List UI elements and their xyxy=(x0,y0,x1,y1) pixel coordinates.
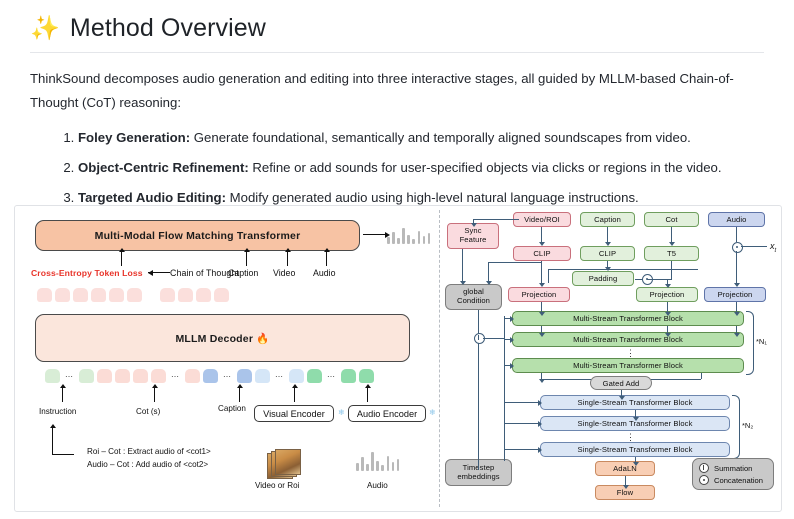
arrow-audio-up xyxy=(326,252,327,266)
snowflake-icon: ❄ xyxy=(429,408,436,417)
line-msn-to-gated-a xyxy=(541,379,591,380)
flow-matching-transformer-box: Multi-Modal Flow Matching Transformer xyxy=(35,220,360,251)
line-bus-to-ss2 xyxy=(504,423,538,424)
line-msn-down-b xyxy=(701,373,702,379)
single-stream-block-n: Single-Stream Transformer Block xyxy=(540,442,730,457)
line-sync-down xyxy=(473,219,474,223)
node-adaln: AdaLN xyxy=(595,461,655,476)
repeat-label-n1: *N₁ xyxy=(756,337,767,346)
node-caption: Caption xyxy=(580,212,635,227)
stage-title: Foley Generation: xyxy=(78,130,190,145)
line-bus-to-ms2 xyxy=(504,339,510,340)
intro-paragraph: ThinkSound decomposes audio generation a… xyxy=(30,67,760,114)
transformer-output-arrow xyxy=(363,234,385,235)
legend-box: Summation Concatenation xyxy=(692,458,774,490)
multi-stream-ellipsis: ⋮ xyxy=(626,351,635,356)
concatenation-node-icon xyxy=(699,475,709,485)
line-ms1-ms2-c xyxy=(736,326,737,333)
line-node-to-t5h xyxy=(647,279,672,280)
single-stream-ellipsis: ⋮ xyxy=(626,435,635,440)
node-padding: Padding xyxy=(572,271,634,286)
input-label-video: Video xyxy=(273,268,295,278)
repeat-brace-n1 xyxy=(746,311,754,375)
line-bus-to-msn xyxy=(504,365,510,366)
line-gated-to-ss1 xyxy=(621,390,622,396)
arrow-visual-encoder-up xyxy=(294,388,295,402)
node-projection-video: Projection xyxy=(508,287,570,302)
line-projt-to-block xyxy=(667,302,668,312)
figure-right-panel: Video/ROI Caption Cot Audio SyncFeature … xyxy=(440,206,781,511)
arrow-cot-up xyxy=(121,252,122,266)
node-clip-text: CLIP xyxy=(580,246,635,261)
node-global-condition: globalCondition xyxy=(445,284,502,310)
line-cliptext-to-padding xyxy=(607,261,608,267)
stage-title: Object-Centric Refinement: xyxy=(78,160,249,175)
line-clip-to-global xyxy=(488,262,489,281)
line-clip-branch xyxy=(488,262,542,263)
media-label-video: Video or Roi xyxy=(255,481,299,490)
line-bus-to-ms1 xyxy=(504,318,510,319)
line-sync-to-global xyxy=(462,249,463,281)
note-roi-cot: Roi – Cot : Extract audio of <cot1> xyxy=(87,446,211,459)
line-caption-to-clip xyxy=(607,227,608,242)
arrow-cots-up xyxy=(154,388,155,402)
legend-row-concatenation: Concatenation xyxy=(699,474,767,486)
line-t5-to-node xyxy=(671,261,672,279)
stage-desc: Modify generated audio using high-level … xyxy=(226,190,639,205)
node-clip-video: CLIP xyxy=(513,246,571,261)
page-title-text: Method Overview xyxy=(70,14,266,43)
stage-desc: Generate foundational, semantically and … xyxy=(190,130,691,145)
line-msn-to-gated-b xyxy=(651,379,701,380)
output-waveform-icon xyxy=(387,225,430,244)
arrow-instruction-up xyxy=(62,388,63,402)
line-bus-to-ssn xyxy=(504,449,538,450)
media-label-audio: Audio xyxy=(367,481,388,490)
node-projection-text: Projection xyxy=(636,287,698,302)
list-item: Object-Centric Refinement: Refine or add… xyxy=(78,157,764,179)
note-bracket-horizontal xyxy=(52,454,74,455)
audio-encoder-box[interactable]: Audio Encoder xyxy=(348,405,426,422)
loss-arrow xyxy=(148,272,170,273)
legend-label-concatenation: Concatenation xyxy=(714,476,763,485)
line-bus-branch xyxy=(504,316,505,461)
repeat-brace-n2 xyxy=(732,395,740,459)
line-bus-to-ss1 xyxy=(504,402,538,403)
arrow-video-up xyxy=(287,252,288,266)
multi-stream-block-1: Multi-Stream Transformer Block xyxy=(512,311,744,326)
node-cot: Cot xyxy=(644,212,699,227)
multi-stream-block-n: Multi-Stream Transformer Block xyxy=(512,358,744,373)
multi-stream-block-2: Multi-Stream Transformer Block xyxy=(512,332,744,347)
line-clipvideo-to-projection xyxy=(541,261,542,283)
bottom-label-instruction: Instruction xyxy=(39,407,76,416)
line-ms1-ms2-b xyxy=(667,326,668,333)
legend-row-summation: Summation xyxy=(699,462,767,474)
line-padding-to-node xyxy=(635,279,643,280)
node-audio: Audio xyxy=(708,212,765,227)
line-bus-node-out xyxy=(483,338,505,339)
node-t5: T5 xyxy=(644,246,699,261)
figure-left-panel: Multi-Modal Flow Matching Transformer ML… xyxy=(15,206,439,511)
single-stream-block-1: Single-Stream Transformer Block xyxy=(540,395,730,410)
line-global-feed xyxy=(548,269,698,270)
video-frames-icon xyxy=(267,449,301,477)
arrow-caption-up xyxy=(246,252,247,266)
node-projection-audio: Projection xyxy=(704,287,766,302)
line-ssn-to-adaln xyxy=(635,457,636,462)
line-projv-to-block xyxy=(541,302,542,312)
xt-line xyxy=(741,246,767,247)
method-figure: Multi-Modal Flow Matching Transformer ML… xyxy=(14,205,782,512)
node-gated-add: Gated Add xyxy=(590,376,652,390)
stage-title: Targeted Audio Editing: xyxy=(78,190,226,205)
snowflake-icon: ❄ xyxy=(338,408,345,417)
repeat-label-n2: *N₂ xyxy=(742,421,753,430)
note-bracket-vertical xyxy=(52,428,53,454)
line-ms1-ms2-a xyxy=(541,326,542,333)
bottom-label-caption: Caption xyxy=(218,404,246,413)
line-audio-to-node xyxy=(736,227,737,242)
cot-notes: Roi – Cot : Extract audio of <cot1> Audi… xyxy=(87,446,211,471)
line-node-to-projection xyxy=(736,251,737,283)
xt-label: xt xyxy=(770,241,776,254)
line-node-to-projtext xyxy=(667,279,668,284)
concatenation-node-icon xyxy=(732,242,743,253)
input-label-caption: Caption xyxy=(228,268,258,278)
audio-waveform-icon xyxy=(356,449,399,471)
list-item: Foley Generation: Generate foundational,… xyxy=(78,127,764,149)
bottom-label-cots: Cot (s) xyxy=(136,407,160,416)
line-videoroi-to-clip xyxy=(541,227,542,242)
summation-node-icon xyxy=(699,463,709,473)
stage-desc: Refine or add sounds for user-specified … xyxy=(249,160,722,175)
line-proja-to-block xyxy=(736,302,737,312)
input-label-audio: Audio xyxy=(313,268,336,278)
line-ss1-ss2 xyxy=(635,410,636,417)
mllm-decoder-box: MLLM Decoder 🔥 xyxy=(35,314,410,362)
arrow-caption2-up xyxy=(239,388,240,402)
legend-label-summation: Summation xyxy=(714,464,752,473)
sparkles-icon: ✨ xyxy=(30,17,60,41)
line-global-feed-drop xyxy=(548,269,549,283)
visual-encoder-box[interactable]: Visual Encoder xyxy=(254,405,334,422)
stages-list: Foley Generation: Generate foundational,… xyxy=(30,127,764,210)
node-video-roi: Video/ROI xyxy=(513,212,571,227)
cross-entropy-loss-label: Cross-Entropy Token Loss xyxy=(31,268,143,278)
lower-token-row: ⋯ ⋯ ⋯ ⋯ ⋯ xyxy=(45,369,374,383)
line-adaln-to-flow xyxy=(625,476,626,485)
note-audio-cot: Audio – Cot : Add audio of <cot2> xyxy=(87,459,211,472)
arrow-audio-encoder-up xyxy=(367,388,368,402)
page-root: ✨ Method Overview ThinkSound decomposes … xyxy=(0,0,794,519)
line-videoroi-to-sync xyxy=(473,219,519,220)
page-title: ✨ Method Overview xyxy=(30,0,764,53)
line-cot-to-t5 xyxy=(671,227,672,242)
upper-token-row xyxy=(37,288,229,302)
